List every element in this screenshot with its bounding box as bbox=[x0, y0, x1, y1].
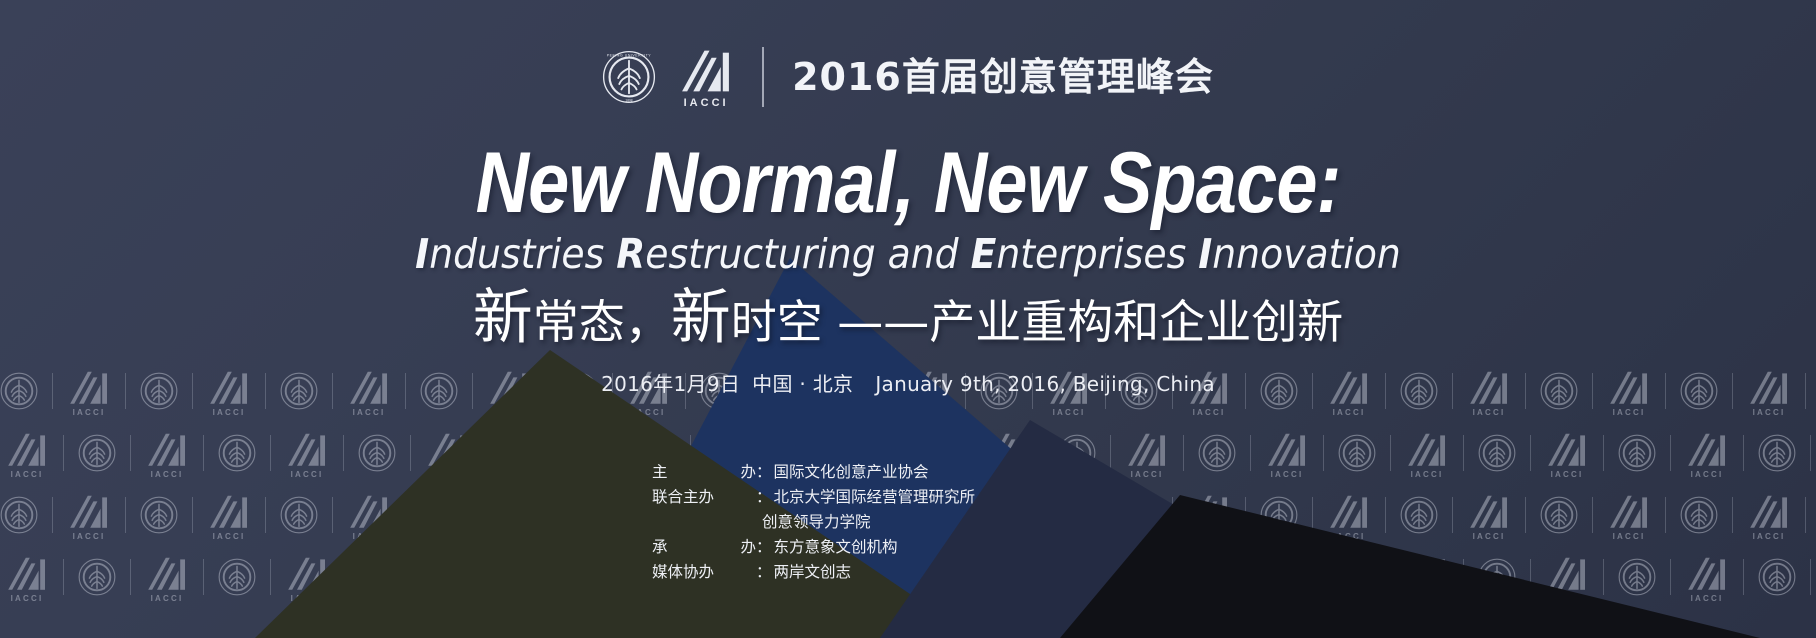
headline-chinese: 新常态，新时空 ——产业重构和企业创新 bbox=[0, 287, 1816, 350]
iacci-mark-icon bbox=[145, 428, 189, 470]
peking-university-seal-icon bbox=[218, 558, 256, 596]
conference-banner: IACCIIACCIIACCIIACCIIACCIIACCIIACCIIACCI… bbox=[0, 0, 1816, 638]
iacci-logo: IACCI bbox=[5, 552, 49, 603]
iacci-wordmark: IACCI bbox=[151, 595, 184, 603]
iacci-mark-icon bbox=[1685, 428, 1729, 470]
credit-separator: ： bbox=[756, 485, 774, 510]
credit-row: 媒体协办：两岸文创志 bbox=[652, 560, 975, 585]
subheadline-initial: R bbox=[616, 230, 645, 278]
pattern-cell: IACCI bbox=[1618, 428, 1758, 479]
iacci-logo: IACCI bbox=[145, 552, 189, 603]
iacci-wordmark: IACCI bbox=[73, 533, 106, 541]
subheadline-initial: I bbox=[415, 230, 429, 278]
iacci-logo: IACCI bbox=[1405, 428, 1449, 479]
credit-label-char: 办 bbox=[740, 535, 756, 560]
peking-university-seal-icon: PEKING UNIVERSITY 1898 bbox=[602, 50, 656, 104]
credit-value-continued: 创意领导力学院 bbox=[652, 510, 975, 535]
pattern-divider bbox=[63, 559, 64, 595]
peking-university-seal-icon bbox=[78, 558, 116, 596]
date-english: January 9th, 2016, Beijing, China bbox=[875, 372, 1215, 396]
subheadline-english: Industries Restructuring and Enterprises… bbox=[73, 232, 1744, 277]
iacci-logo: IACCI bbox=[1685, 428, 1729, 479]
peking-university-seal-icon bbox=[1758, 434, 1796, 472]
subheadline-text: nterprises bbox=[996, 230, 1198, 278]
pattern-cell: IACCI bbox=[1758, 552, 1816, 603]
pattern-cell: IACCI bbox=[1758, 428, 1816, 479]
iacci-mark-icon bbox=[5, 428, 49, 470]
iacci-wordmark: IACCI bbox=[684, 98, 729, 109]
pattern-divider bbox=[1810, 559, 1811, 595]
iacci-wordmark: IACCI bbox=[1411, 471, 1444, 479]
pattern-divider bbox=[1603, 435, 1604, 471]
iacci-logo: IACCI bbox=[5, 428, 49, 479]
event-title-cn: 2016首届创意管理峰会 bbox=[792, 58, 1214, 96]
iacci-wordmark: IACCI bbox=[1691, 471, 1724, 479]
credit-row: 主办：国际文化创意产业协会 bbox=[652, 460, 975, 485]
credit-value: 两岸文创志 bbox=[774, 560, 852, 585]
subheadline-initial: E bbox=[971, 230, 997, 278]
pattern-cell: IACCI bbox=[1478, 428, 1618, 479]
pattern-divider bbox=[52, 497, 53, 533]
pattern-cell: IACCI bbox=[0, 428, 78, 479]
pattern-divider bbox=[130, 435, 131, 471]
credit-separator: ： bbox=[756, 560, 774, 585]
iacci-mark-icon bbox=[207, 490, 251, 532]
peking-university-seal-icon bbox=[1618, 434, 1656, 472]
credit-label: 联合主办 bbox=[652, 485, 756, 510]
peking-university-seal-icon bbox=[218, 434, 256, 472]
iacci-mark-icon bbox=[678, 44, 734, 96]
pattern-divider bbox=[1743, 435, 1744, 471]
location-chinese: 中国 · 北京 bbox=[752, 372, 853, 396]
headline-english: New Normal, New Space: bbox=[127, 140, 1689, 228]
pattern-divider bbox=[1810, 435, 1811, 471]
credit-separator: ： bbox=[756, 535, 774, 560]
credit-value: 北京大学国际经营管理研究所 bbox=[774, 485, 976, 510]
iacci-mark-icon bbox=[1545, 428, 1589, 470]
credit-label: 承办 bbox=[652, 535, 756, 560]
peking-university-seal-icon bbox=[140, 496, 178, 534]
iacci-wordmark: IACCI bbox=[1473, 409, 1506, 417]
main-title-block: New Normal, New Space: Industries Restru… bbox=[0, 140, 1816, 397]
iacci-wordmark: IACCI bbox=[11, 471, 44, 479]
credit-separator: ： bbox=[756, 460, 774, 485]
event-datetime-location: 2016年1月9日中国 · 北京January 9th, 2016, Beiji… bbox=[0, 368, 1816, 397]
credit-label-char: 承 bbox=[652, 535, 668, 560]
pattern-divider bbox=[130, 559, 131, 595]
iacci-wordmark: IACCI bbox=[1613, 409, 1646, 417]
iacci-logo: IACCI bbox=[207, 490, 251, 541]
pattern-divider bbox=[1805, 497, 1806, 533]
iacci-wordmark: IACCI bbox=[1333, 409, 1366, 417]
header-divider bbox=[762, 47, 764, 107]
pattern-divider bbox=[1463, 435, 1464, 471]
credit-label: 媒体协办 bbox=[652, 560, 756, 585]
iacci-wordmark: IACCI bbox=[73, 409, 106, 417]
credit-value: 东方意象文创机构 bbox=[774, 535, 898, 560]
iacci-logo: IACCI bbox=[145, 428, 189, 479]
mountain-black bbox=[1060, 495, 1760, 638]
headline-cn-part-2: 常态， bbox=[533, 295, 671, 349]
iacci-wordmark: IACCI bbox=[1551, 471, 1584, 479]
subheadline-text: nnovation bbox=[1212, 230, 1401, 278]
subheadline-text: ndustries bbox=[429, 230, 616, 278]
iacci-mark-icon bbox=[67, 490, 111, 532]
svg-text:1898: 1898 bbox=[626, 98, 633, 102]
pattern-divider bbox=[63, 435, 64, 471]
iacci-logo: IACCI bbox=[678, 44, 734, 109]
credit-row: 承办：东方意象文创机构 bbox=[652, 535, 975, 560]
pattern-cell: IACCI bbox=[78, 552, 218, 603]
iacci-wordmark: IACCI bbox=[11, 595, 44, 603]
peking-university-seal-icon bbox=[78, 434, 116, 472]
pattern-divider bbox=[1530, 435, 1531, 471]
credit-value: 国际文化创意产业协会 bbox=[774, 460, 929, 485]
credit-label: 主办 bbox=[652, 460, 756, 485]
peking-university-seal-icon bbox=[1478, 434, 1516, 472]
iacci-mark-icon bbox=[5, 552, 49, 594]
pattern-cell: IACCI bbox=[78, 428, 218, 479]
banner-header: PEKING UNIVERSITY 1898 IACCI 2016首届创意管理峰… bbox=[0, 44, 1816, 109]
pattern-cell: IACCI bbox=[0, 490, 140, 541]
credit-row: 联合主办：北京大学国际经营管理研究所 bbox=[652, 485, 975, 510]
subheadline-text: estructuring and bbox=[645, 230, 970, 278]
iacci-wordmark: IACCI bbox=[151, 471, 184, 479]
pattern-divider bbox=[203, 435, 204, 471]
svg-text:PEKING UNIVERSITY: PEKING UNIVERSITY bbox=[607, 53, 652, 57]
credit-label-char: 主 bbox=[652, 460, 668, 485]
date-chinese: 2016年1月9日 bbox=[601, 372, 740, 396]
iacci-logo: IACCI bbox=[1545, 428, 1589, 479]
peking-university-seal-icon bbox=[0, 496, 38, 534]
iacci-mark-icon bbox=[145, 552, 189, 594]
organizer-credits: 主办：国际文化创意产业协会联合主办：北京大学国际经营管理研究所创意领导力学院承办… bbox=[652, 460, 975, 586]
iacci-wordmark: IACCI bbox=[213, 409, 246, 417]
iacci-logo: IACCI bbox=[67, 490, 111, 541]
pattern-divider bbox=[1670, 435, 1671, 471]
credit-label-char: 办 bbox=[740, 460, 756, 485]
pattern-cell: IACCI bbox=[0, 552, 78, 603]
peking-university-seal-icon bbox=[1758, 558, 1796, 596]
pattern-divider bbox=[192, 497, 193, 533]
headline-cn-part-1: 新 bbox=[473, 283, 533, 353]
pattern-divider bbox=[203, 559, 204, 595]
subheadline-initial: I bbox=[1198, 230, 1212, 278]
iacci-mark-icon bbox=[1405, 428, 1449, 470]
iacci-wordmark: IACCI bbox=[1753, 409, 1786, 417]
headline-cn-part-4: 时空 ——产业重构和企业创新 bbox=[731, 295, 1344, 349]
iacci-wordmark: IACCI bbox=[213, 533, 246, 541]
headline-cn-part-3: 新 bbox=[671, 283, 731, 353]
pattern-divider bbox=[125, 497, 126, 533]
